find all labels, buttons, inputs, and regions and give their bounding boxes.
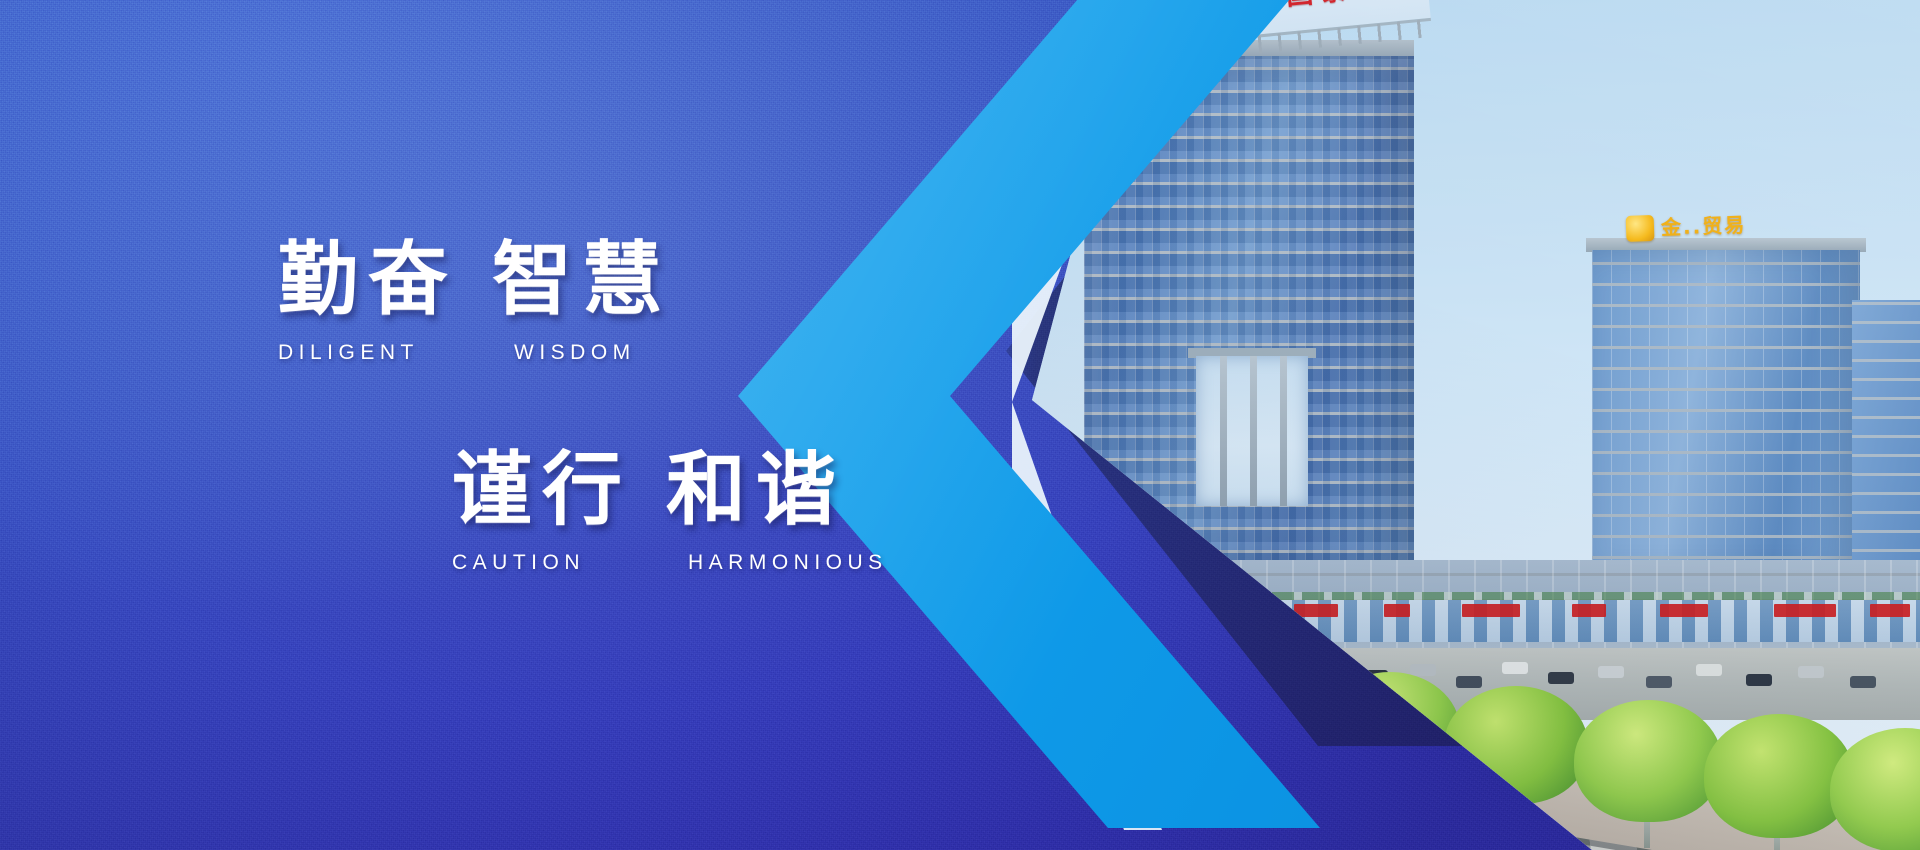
slogan-cn-caution: 谨行 — [452, 445, 632, 534]
slogan-line-2: 谨行和谐 CAUTIONHARMONIOUS — [452, 450, 888, 573]
slogan-cn-wisdom: 智慧 — [492, 235, 672, 324]
slogan-en-diligent: DILIGENT — [278, 342, 514, 363]
slogan-line-2-chinese: 谨行和谐 — [452, 450, 888, 530]
banner-right-composite: 江苏国泰 金..贸易 — [920, 0, 1920, 850]
slogan-en-harmonious: HARMONIOUS — [688, 552, 888, 573]
slogan-en-wisdom: WISDOM — [514, 342, 636, 363]
slogan-en-caution: CAUTION — [452, 552, 688, 573]
slogan-block: 勤奋智慧 DILIGENTWISDOM 谨行和谐 CAUTIONHARMONIO… — [0, 0, 1060, 850]
slogan-cn-diligent: 勤奋 — [278, 235, 458, 324]
slogan-line-1-chinese: 勤奋智慧 — [278, 240, 672, 320]
slogan-cn-harmonious: 和谐 — [666, 445, 846, 534]
slogan-line-2-english: CAUTIONHARMONIOUS — [452, 552, 888, 573]
hero-banner: 江苏国泰 金..贸易 — [0, 0, 1920, 850]
slogan-line-1-english: DILIGENTWISDOM — [278, 342, 672, 363]
distant-tower — [1852, 300, 1920, 590]
slogan-line-1: 勤奋智慧 DILIGENTWISDOM — [278, 240, 672, 363]
